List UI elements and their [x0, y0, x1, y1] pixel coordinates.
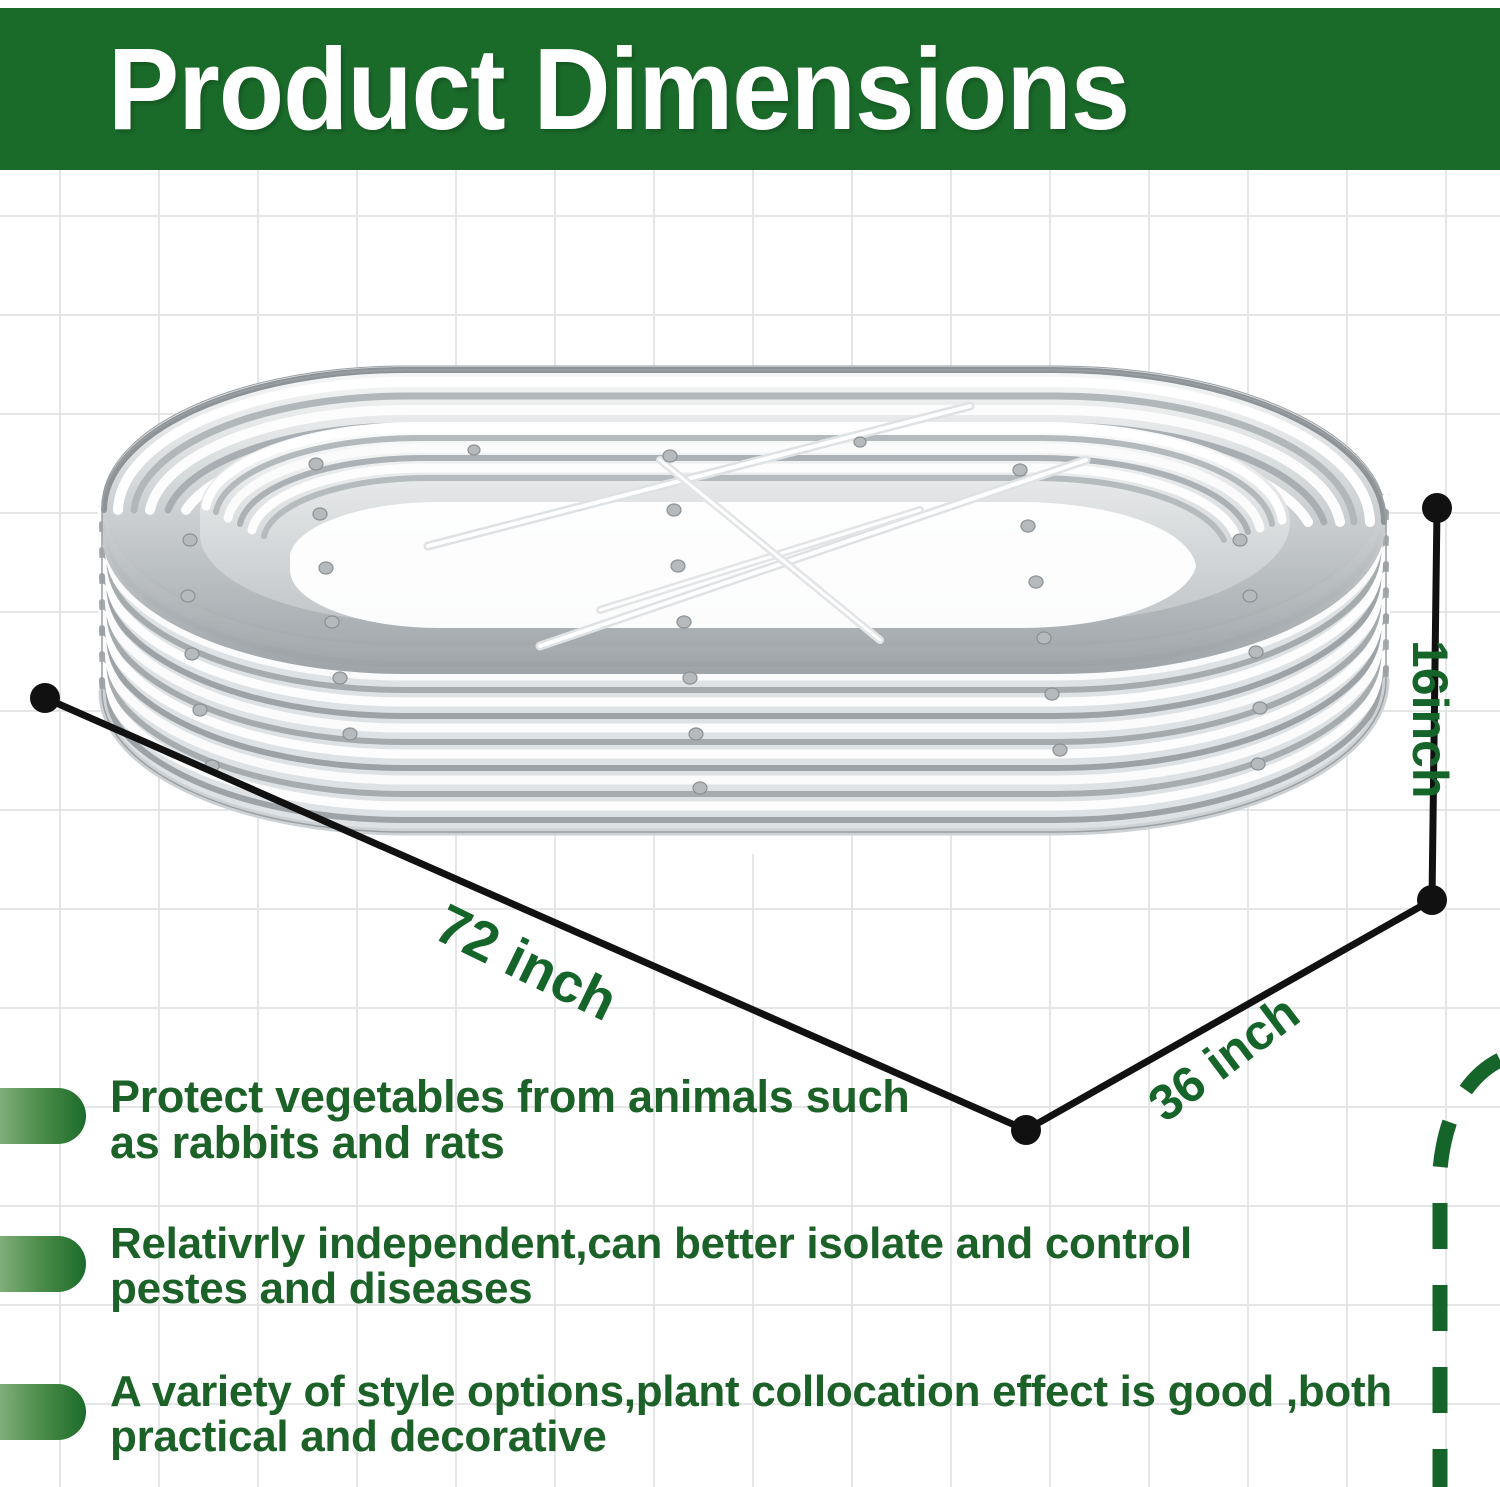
decorative-dashed-arc	[1440, 1060, 1500, 1487]
page-title: Product Dimensions	[108, 31, 1129, 147]
bullet-pill-icon	[0, 1384, 86, 1440]
header-band: Product Dimensions	[0, 8, 1500, 170]
list-item: A variety of style options,plant colloca…	[0, 1374, 1400, 1487]
feature-text: A variety of style options,plant colloca…	[110, 1370, 1392, 1460]
list-item: Relativrly independent,can better isolat…	[0, 1226, 1400, 1374]
infographic-page: Product Dimensions	[0, 0, 1500, 1487]
bullet-pill-icon	[0, 1236, 86, 1292]
dimension-label-height: 16inch	[1405, 640, 1455, 798]
feature-list: Protect vegetables from animals such as …	[0, 1078, 1400, 1487]
product-illustration	[40, 210, 1420, 1140]
raised-garden-bed-svg	[40, 210, 1420, 1140]
feature-text: Relativrly independent,can better isolat…	[110, 1222, 1192, 1312]
list-item: Protect vegetables from animals such as …	[0, 1078, 1400, 1226]
bullet-pill-icon	[0, 1088, 86, 1144]
feature-text: Protect vegetables from animals such as …	[110, 1074, 910, 1166]
